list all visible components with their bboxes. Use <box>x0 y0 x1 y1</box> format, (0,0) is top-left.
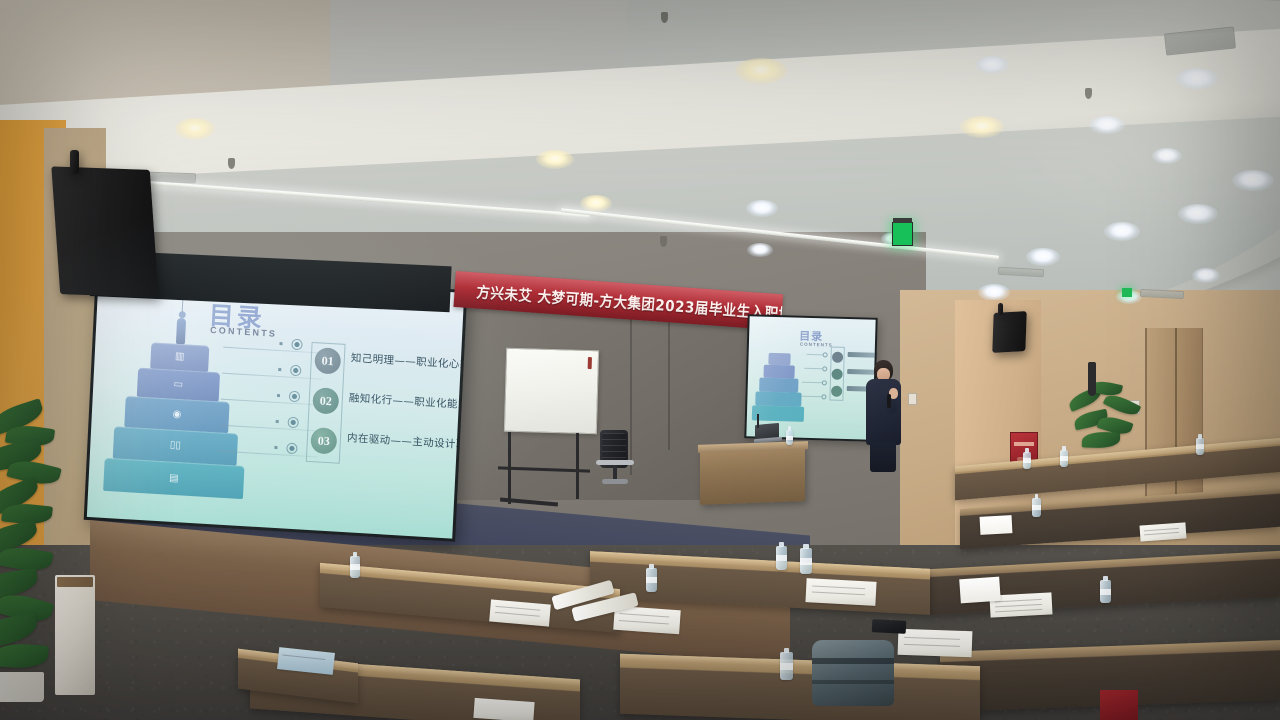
paper-line <box>812 585 865 589</box>
slide-item-text-2: 融知化行——职业化能力养成 <box>349 390 465 413</box>
paper-line <box>283 655 325 660</box>
bottle <box>776 546 787 570</box>
pyramid-tier-5: ▤ <box>103 458 244 499</box>
screen2-number <box>832 352 843 363</box>
fire-equipment-box[interactable] <box>1100 690 1138 720</box>
bullet-dot <box>290 365 302 377</box>
screen2-subtitle: CONTENTS <box>800 342 833 348</box>
bar-chart-icon: ▥ <box>175 352 185 363</box>
books-icon: ▯▯ <box>170 441 181 452</box>
plant-pot <box>0 672 44 702</box>
chair-base <box>602 479 628 484</box>
cabinet-label <box>1014 442 1034 446</box>
pyramid-tier <box>755 391 801 406</box>
backpack <box>812 640 894 706</box>
wall-speaker-right <box>992 311 1026 353</box>
dot-square <box>277 394 280 397</box>
paper-line <box>495 606 541 611</box>
plant-leaf <box>1103 391 1141 419</box>
slide-item-text-1: 知己明理——职业化心态塑造 <box>351 350 465 373</box>
screen2-frame: 目录 CONTENTS <box>744 314 877 442</box>
sprinkler-head <box>228 158 235 169</box>
speaker-right-mount <box>998 303 1003 315</box>
screen-surface: ▥ ▭ ◉ ▯▯ ▤ 目录 CONTENTS <box>87 271 464 538</box>
bottle <box>646 568 657 592</box>
paper-line <box>1144 532 1179 535</box>
bottle-label <box>780 663 793 670</box>
microphone-stand <box>757 414 759 428</box>
bottle <box>1196 438 1204 455</box>
bottle <box>1060 450 1068 467</box>
bottle-label <box>1032 505 1041 510</box>
bottle-label <box>1060 456 1068 460</box>
screen2-leader <box>807 354 823 355</box>
whiteboard-magnet <box>588 357 592 369</box>
screen2-number-box <box>829 347 845 401</box>
speaker-left-mount <box>70 150 79 174</box>
name-tent-card[interactable] <box>980 515 1013 535</box>
screen2-surface: 目录 CONTENTS <box>746 316 875 439</box>
dot-square <box>274 446 277 449</box>
emergency-exit-sign <box>892 222 913 246</box>
presentation-icon: ▤ <box>169 473 179 484</box>
pyramid-tier <box>768 353 790 366</box>
handout-paper[interactable] <box>898 629 973 658</box>
item-number-02: 02 <box>312 387 339 415</box>
table-row-center-front <box>620 654 980 720</box>
screen2-number <box>831 386 842 397</box>
pyramid-tier <box>759 378 798 393</box>
emergency-exit-sign-secondary <box>1122 288 1132 297</box>
handout-paper[interactable] <box>805 578 876 606</box>
seminar-room-photo: ▥ ▭ ◉ ▯▯ ▤ 目录 CONTENTS <box>0 0 1280 720</box>
bottle <box>800 548 812 574</box>
wall-speaker-left <box>51 166 158 297</box>
paper-line <box>812 591 865 595</box>
slide-item-text-3: 内在驱动——主动设计职业人生 <box>347 430 465 454</box>
bullet-dot <box>286 443 298 455</box>
plant-pot <box>1088 362 1096 396</box>
screen2-dot <box>821 394 826 399</box>
paper-line <box>620 613 670 617</box>
pyramid-graphic-small <box>752 352 806 431</box>
bullet-dot <box>289 391 301 403</box>
handout-paper[interactable] <box>613 606 681 635</box>
screen2-number <box>831 369 842 380</box>
light-switch-plate[interactable] <box>908 393 917 405</box>
number-column-box: 01 02 03 <box>306 342 346 464</box>
dot-square <box>279 342 282 345</box>
bullet-dot <box>291 339 303 351</box>
bottle-label <box>800 558 812 565</box>
screen2-dot <box>822 366 827 371</box>
bottle-label <box>1196 444 1204 448</box>
lightbulb-icon: ◉ <box>172 409 181 420</box>
handout-paper[interactable] <box>473 698 534 720</box>
sprinkler-head <box>660 236 667 247</box>
laptop-icon: ▭ <box>173 379 183 390</box>
bottle-label <box>350 564 360 570</box>
pyramid-tier-1: ▥ <box>150 342 209 371</box>
sprinkler-head <box>1085 88 1092 99</box>
screen2-leader <box>804 368 822 370</box>
stage-chair[interactable] <box>594 430 636 486</box>
smartphone[interactable] <box>872 619 907 634</box>
presenter-legs <box>870 442 896 472</box>
wall-seam <box>668 300 670 450</box>
bottle <box>1100 580 1111 603</box>
handout-paper[interactable] <box>1139 522 1186 541</box>
plant-leaf <box>0 642 49 670</box>
bottle <box>1023 452 1031 469</box>
pyramid-tier <box>752 405 804 421</box>
planter-soil <box>57 577 93 587</box>
sprinkler-head <box>661 12 668 23</box>
presenter <box>862 360 906 470</box>
planter-box <box>55 575 95 695</box>
paper-line <box>1144 528 1179 531</box>
paper-line <box>495 612 541 617</box>
bottle-label <box>786 436 793 440</box>
bottle <box>1032 498 1041 517</box>
item-number-03: 03 <box>310 427 337 455</box>
dot-square <box>276 420 279 423</box>
name-tent-card[interactable] <box>959 577 1001 604</box>
backpack-strap <box>812 680 894 684</box>
bottle-label <box>646 577 657 583</box>
pyramid-top-figure <box>176 318 186 345</box>
projection-screen-right: 目录 CONTENTS <box>744 314 877 442</box>
bottle <box>780 652 793 680</box>
bottle <box>786 430 793 445</box>
bottle-label <box>1100 589 1111 595</box>
paper-line <box>995 599 1042 602</box>
screen2-item-text <box>848 352 876 358</box>
plant-leaf <box>1082 431 1121 448</box>
exit-sign-mount <box>893 218 912 223</box>
whiteboard-leg <box>576 433 579 499</box>
backpack-strap <box>812 658 894 664</box>
paper-line <box>904 644 960 647</box>
bottle-label <box>1023 458 1031 462</box>
paper-line <box>904 637 960 640</box>
paper-line <box>995 609 1042 612</box>
screen2-dot <box>822 380 827 385</box>
podium <box>700 445 805 505</box>
handheld-microphone-icon <box>887 394 891 408</box>
paper-line <box>995 604 1042 607</box>
screen2-leader <box>802 382 822 384</box>
dot-square <box>278 368 281 371</box>
bottle-label <box>776 555 787 561</box>
bottle <box>350 556 360 578</box>
bullet-dot <box>287 417 299 429</box>
item-number-01: 01 <box>314 347 341 375</box>
paper-line <box>619 620 669 624</box>
pyramid-tier <box>763 365 794 379</box>
screen2-dot <box>823 352 828 357</box>
whiteboard[interactable] <box>504 348 599 435</box>
